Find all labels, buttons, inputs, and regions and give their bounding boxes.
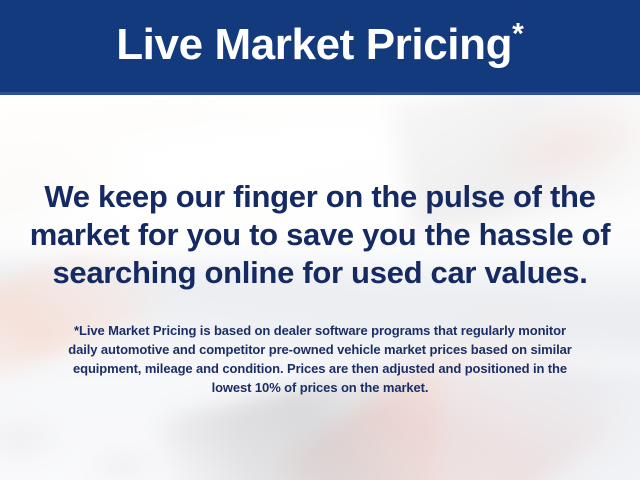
headline-line: We keep our finger on the pulse of the xyxy=(26,178,614,216)
headline: We keep our finger on the pulse of the m… xyxy=(0,92,640,292)
footnote-marker: * xyxy=(512,17,524,50)
disclaimer-line: lowest 10% of prices on the market. xyxy=(22,378,618,397)
headline-line: market for you to save you the hassle of xyxy=(26,216,614,254)
page-title: Live Market Pricing* xyxy=(116,23,524,70)
header-banner: Live Market Pricing* xyxy=(0,0,640,92)
live-market-pricing-banner: Live Market Pricing* We keep our finger … xyxy=(0,0,640,480)
headline-line: searching online for used car values. xyxy=(26,254,614,292)
copy-block: We keep our finger on the pulse of the m… xyxy=(0,92,640,480)
disclaimer-line: equipment, mileage and condition. Prices… xyxy=(22,359,618,378)
disclaimer-line: *Live Market Pricing is based on dealer … xyxy=(22,321,618,340)
disclaimer-text: *Live Market Pricing is based on dealer … xyxy=(0,292,640,397)
page-title-text: Live Market Pricing xyxy=(116,20,512,69)
disclaimer-line: daily automotive and competitor pre-owne… xyxy=(22,340,618,359)
